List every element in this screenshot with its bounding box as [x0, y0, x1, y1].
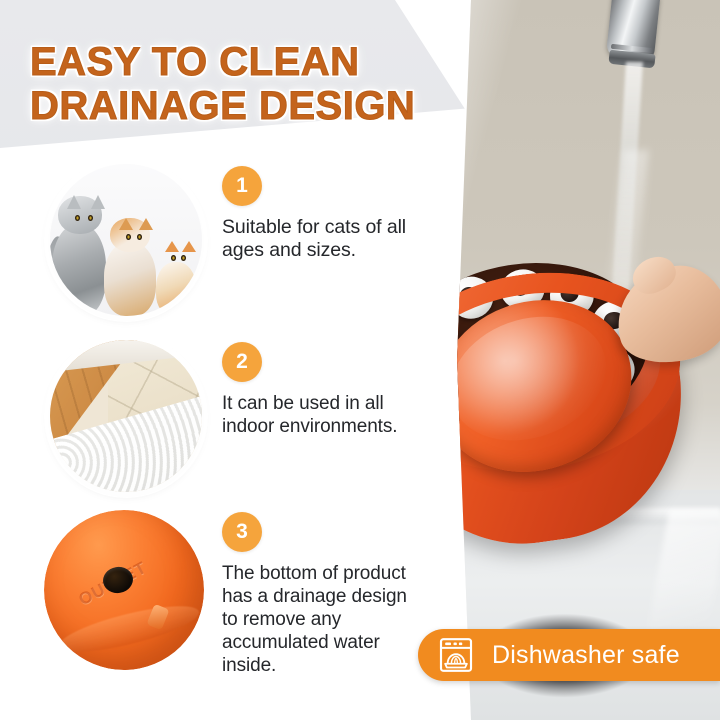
dishwasher-icon [436, 635, 476, 675]
cat-eye [126, 234, 131, 240]
cat-ear [182, 241, 196, 252]
page-title: EASY TO CLEAN DRAINAGE DESIGN [30, 40, 415, 128]
cat-eye [88, 215, 93, 221]
badge-label: Dishwasher safe [492, 641, 680, 670]
cat-eye [171, 255, 176, 261]
status-badge: Dishwasher safe [418, 629, 720, 681]
cats-photo [50, 164, 202, 316]
floors-photo [50, 340, 202, 492]
feature-number-badge: 3 [222, 512, 262, 552]
cat-body [52, 224, 106, 316]
infographic-page: EASY TO CLEAN DRAINAGE DESIGN [0, 0, 720, 720]
feature-text: It can be used in all indoor environment… [222, 392, 418, 438]
feature-item-1: 1 Suitable for cats of all ages and size… [0, 160, 440, 336]
feature-item-2: 2 It can be used in all indoor environme… [0, 336, 440, 504]
title-line-2: DRAINAGE DESIGN [30, 84, 415, 128]
cat-eye [137, 234, 142, 240]
feature-number-badge: 1 [222, 166, 262, 206]
cat-body [104, 242, 156, 316]
feature-number-badge: 2 [222, 342, 262, 382]
feature-list: 1 Suitable for cats of all ages and size… [0, 160, 440, 704]
cat-ear [139, 218, 153, 230]
cat-eye [181, 255, 186, 261]
cat-kitten [154, 238, 200, 316]
cat-head [159, 242, 192, 270]
feature-text: The bottom of product has a drainage des… [222, 562, 408, 677]
outlet-photo: OUTLET [44, 510, 204, 670]
feature-text: Suitable for cats of all ages and sizes. [222, 216, 418, 262]
product-photo [437, 0, 720, 720]
cat-ear [67, 195, 81, 209]
title-line-1: EASY TO CLEAN [30, 40, 415, 84]
cat-ear [165, 241, 179, 252]
cat-medium [102, 212, 160, 316]
feature-item-3: OUTLET 3 The bottom of product has a dra… [0, 504, 440, 704]
cat-head [58, 196, 102, 234]
cat-head [110, 218, 150, 252]
cat-eye [75, 215, 80, 221]
cat-ear [119, 218, 133, 230]
cat-ear [91, 195, 105, 209]
cat-body [156, 262, 196, 316]
